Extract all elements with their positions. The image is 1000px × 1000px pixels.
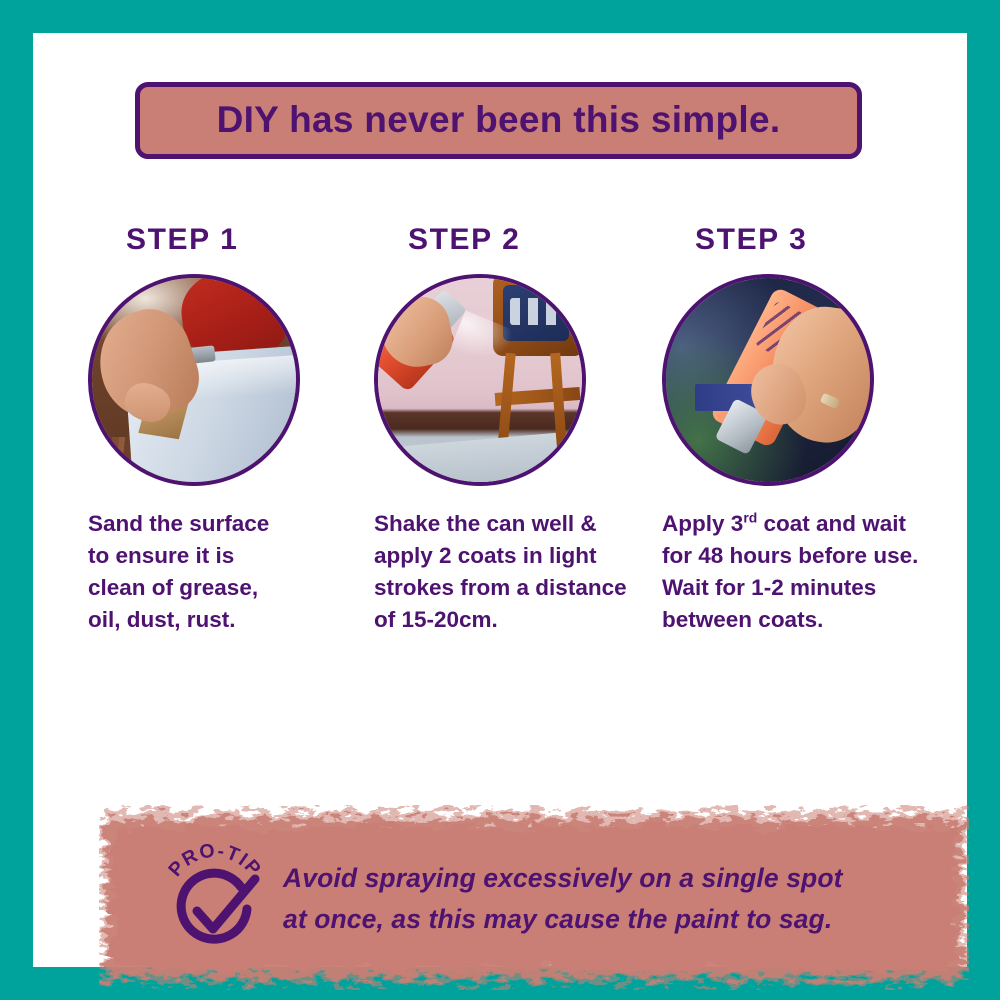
pro-tip-text: Avoid spraying excessively on a single s…: [283, 858, 843, 939]
pro-tip-line-2: at once, as this may cause the paint to …: [283, 899, 843, 939]
pro-tip-content: PRO-TIP Avoid spraying excessively on a …: [99, 805, 969, 990]
photo-art-1: [92, 278, 296, 482]
step-2-label: STEP 2: [374, 223, 645, 257]
step-2-line-3: strokes from a distance: [374, 572, 642, 604]
step-1-line-2: to ensure it is: [88, 540, 356, 572]
holding-spray-can-photo: [662, 274, 874, 486]
poster-root: DIY has never been this simple. STEP 1: [0, 0, 1000, 1000]
photo-art-2: [378, 278, 582, 482]
grey-surface-shape: [374, 433, 559, 486]
step-2-line-1: Shake the can well &: [374, 508, 642, 540]
step-2-line-4: of 15-20cm.: [374, 604, 642, 636]
page-title: DIY has never been this simple.: [217, 101, 781, 138]
step-1-text: Sand the surface to ensure it is clean o…: [88, 508, 356, 636]
step-2: STEP 2: [356, 223, 645, 636]
step-3: STEP 3 Apply 3rd coat and wait for 48 ho…: [645, 223, 934, 636]
step-2-text: Shake the can well & apply 2 coats in li…: [374, 508, 642, 636]
step-1-line-1: Sand the surface: [88, 508, 356, 540]
spraying-chair-photo: [374, 274, 586, 486]
step-1-label: STEP 1: [88, 223, 356, 257]
step-1-line-4: oil, dust, rust.: [88, 604, 356, 636]
sanding-surface-photo: [88, 274, 300, 486]
photo-art-3: [666, 278, 870, 482]
step-3-line-4: between coats.: [662, 604, 930, 636]
white-canvas: DIY has never been this simple. STEP 1: [33, 33, 967, 967]
step-3-line-1: Apply 3rd coat and wait: [662, 508, 930, 540]
step-3-line-3: Wait for 1-2 minutes: [662, 572, 930, 604]
step-3-label: STEP 3: [662, 223, 934, 257]
step-1: STEP 1 Sand the surface to ensure it is: [66, 223, 356, 636]
pro-tip-line-1: Avoid spraying excessively on a single s…: [283, 858, 843, 898]
header-banner: DIY has never been this simple.: [135, 82, 862, 159]
steps-row: STEP 1 Sand the surface to ensure it is: [66, 223, 934, 636]
step-1-line-3: clean of grease,: [88, 572, 356, 604]
circle-check-icon: PRO-TIP: [155, 839, 273, 961]
step-3-line-2: for 48 hours before use.: [662, 540, 930, 572]
step-2-line-2: apply 2 coats in light: [374, 540, 642, 572]
pro-tip-banner: PRO-TIP Avoid spraying excessively on a …: [99, 805, 969, 990]
step-3-text: Apply 3rd coat and wait for 48 hours bef…: [662, 508, 930, 636]
